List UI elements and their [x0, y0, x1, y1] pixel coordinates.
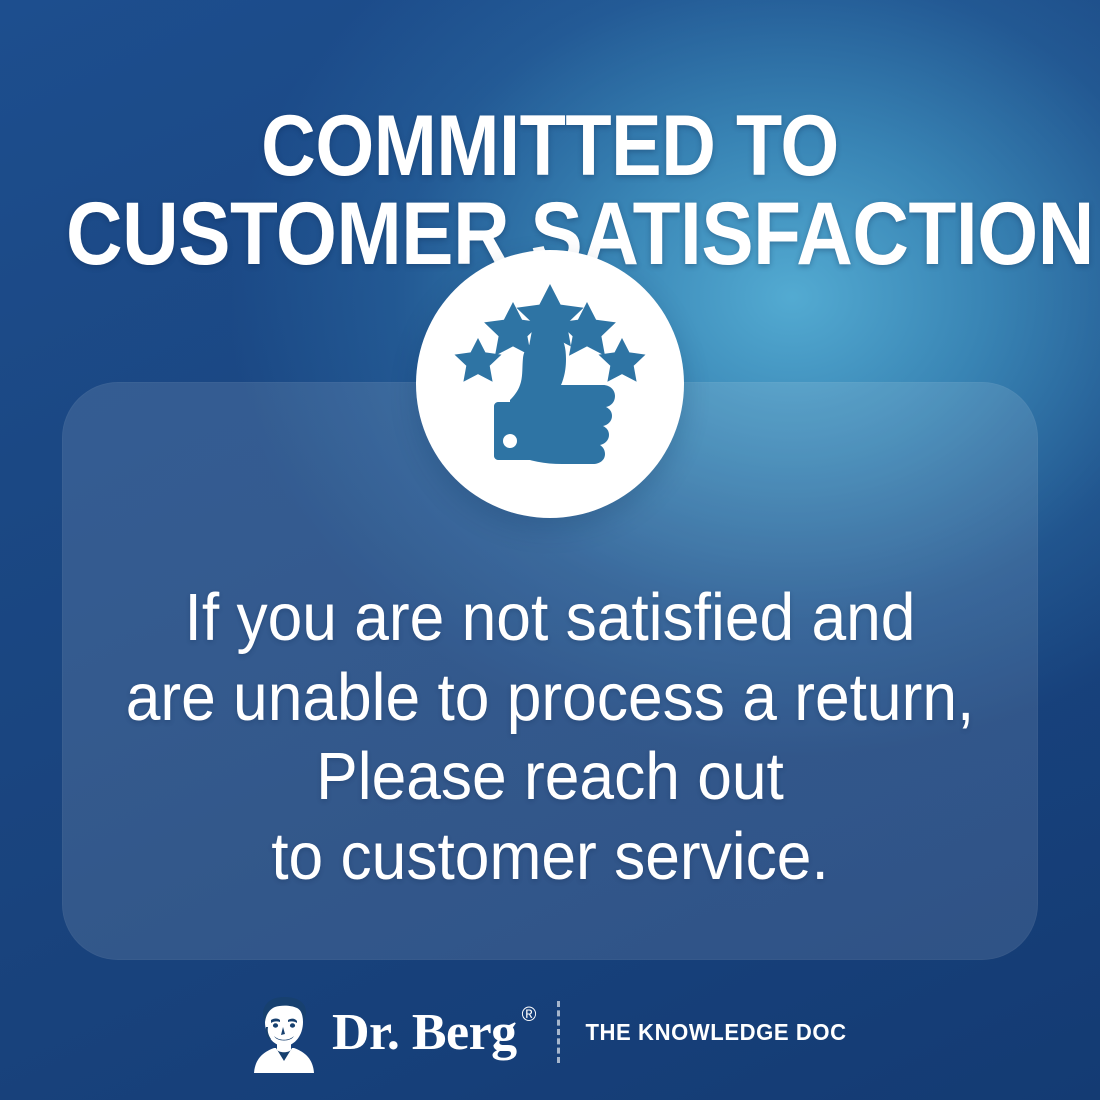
brand-wordmark-text: Dr. Berg [332, 1004, 517, 1061]
body-line-1: If you are not satisfied and [39, 578, 1062, 658]
registered-trademark-symbol: ® [522, 1004, 536, 1026]
body-line-4: to customer service. [39, 817, 1062, 897]
thumbs-up-five-stars-icon [455, 284, 646, 464]
brand-footer: Dr. Berg® THE KNOWLEDGE DOC [0, 986, 1100, 1078]
dr-berg-portrait-icon [248, 991, 320, 1073]
footer-divider [557, 1001, 560, 1063]
body-line-3: Please reach out [39, 737, 1062, 817]
headline-line-1: COMMITTED TO [66, 104, 1034, 189]
cuff-button-dot [503, 434, 517, 448]
body-line-2: are unable to process a return, [39, 658, 1062, 738]
poster-canvas: COMMITTED TO CUSTOMER SATISFACTION [0, 0, 1100, 1100]
body-copy: If you are not satisfied and are unable … [39, 578, 1062, 897]
brand-wordmark: Dr. Berg® [332, 1007, 531, 1059]
satisfaction-badge [416, 250, 684, 518]
brand-tagline: THE KNOWLEDGE DOC [585, 1019, 846, 1046]
